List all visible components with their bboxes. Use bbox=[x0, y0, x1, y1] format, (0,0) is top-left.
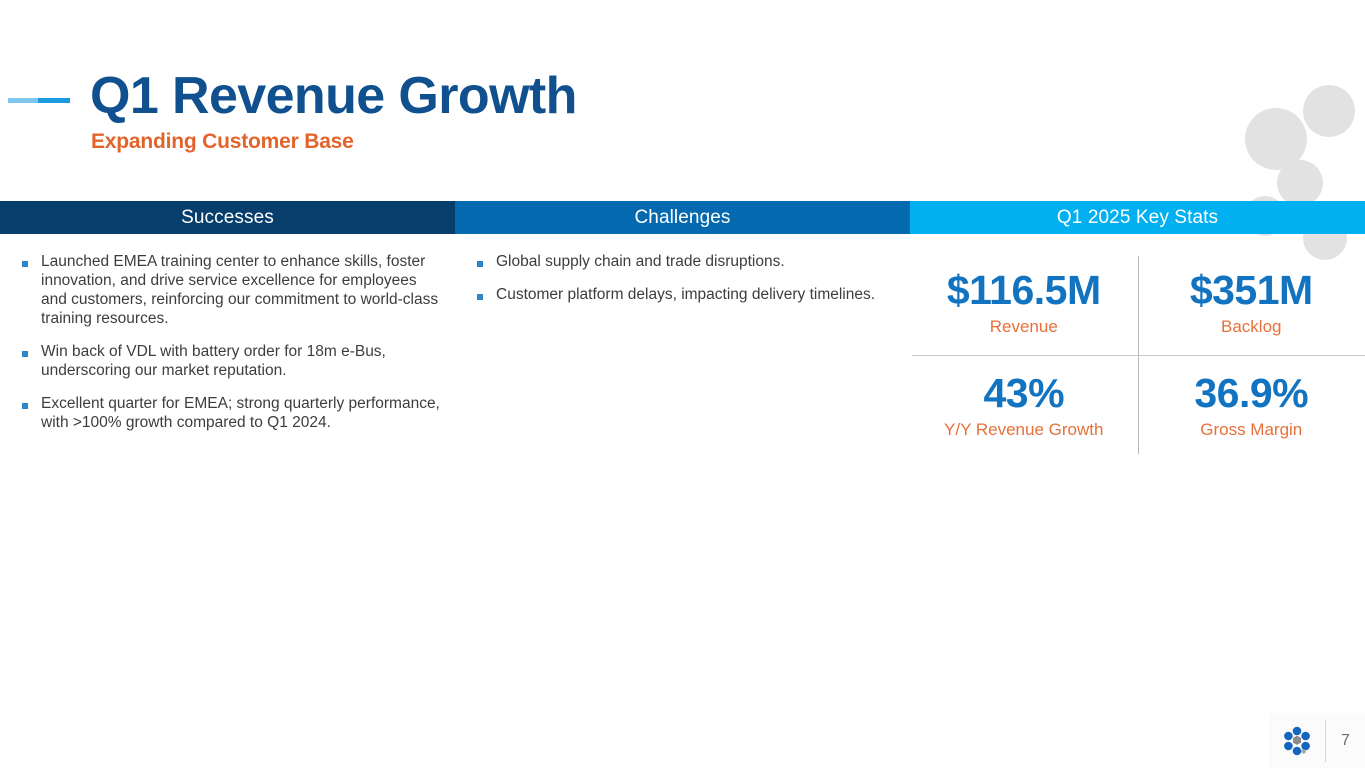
company-logo-icon bbox=[1269, 713, 1325, 768]
bullet-square-icon bbox=[22, 403, 28, 409]
stat-label: Revenue bbox=[990, 318, 1058, 337]
challenges-column: Global supply chain and trade disruption… bbox=[477, 252, 887, 318]
successes-column: Launched EMEA training center to enhance… bbox=[22, 252, 446, 447]
accent-segment-bright bbox=[38, 98, 70, 103]
bullet-square-icon bbox=[477, 294, 483, 300]
bullet-text: Launched EMEA training center to enhance… bbox=[41, 252, 446, 328]
stat-value: 36.9% bbox=[1194, 373, 1308, 414]
list-item: Excellent quarter for EMEA; strong quart… bbox=[22, 394, 446, 432]
decorative-circle bbox=[1303, 85, 1355, 137]
bullet-square-icon bbox=[477, 261, 483, 267]
band-label-challenges: Challenges bbox=[455, 201, 910, 234]
list-item: Win back of VDL with battery order for 1… bbox=[22, 342, 446, 380]
accent-segment-light bbox=[8, 98, 38, 103]
stat-yy-revenue-growth: 43% Y/Y Revenue Growth bbox=[910, 355, 1138, 458]
key-stats-grid: $116.5M Revenue $351M Backlog 43% Y/Y Re… bbox=[910, 252, 1365, 458]
slide-footer: 7 bbox=[1269, 713, 1365, 768]
list-item: Customer platform delays, impacting deli… bbox=[477, 285, 887, 304]
bullet-text: Global supply chain and trade disruption… bbox=[496, 252, 887, 271]
title-accent-rule bbox=[8, 98, 70, 103]
section-header-band: Successes Challenges Q1 2025 Key Stats bbox=[0, 201, 1365, 234]
decorative-circle bbox=[1277, 160, 1323, 206]
stat-label: Y/Y Revenue Growth bbox=[944, 421, 1103, 440]
stat-label: Backlog bbox=[1221, 318, 1281, 337]
bullet-square-icon bbox=[22, 261, 28, 267]
bullet-text: Customer platform delays, impacting deli… bbox=[496, 285, 887, 304]
key-stats-panel: $116.5M Revenue $351M Backlog 43% Y/Y Re… bbox=[910, 252, 1365, 458]
stat-value: $351M bbox=[1190, 270, 1313, 311]
bullet-text: Win back of VDL with battery order for 1… bbox=[41, 342, 446, 380]
stat-backlog: $351M Backlog bbox=[1138, 252, 1365, 355]
list-item: Launched EMEA training center to enhance… bbox=[22, 252, 446, 328]
stat-value: 43% bbox=[983, 373, 1064, 414]
stat-gross-margin: 36.9% Gross Margin bbox=[1138, 355, 1365, 458]
page-title: Q1 Revenue Growth bbox=[90, 68, 577, 124]
stat-revenue: $116.5M Revenue bbox=[910, 252, 1138, 355]
band-label-key-stats: Q1 2025 Key Stats bbox=[910, 201, 1365, 234]
page-subtitle: Expanding Customer Base bbox=[91, 130, 354, 154]
page-number: 7 bbox=[1326, 732, 1365, 750]
decorative-circle bbox=[1245, 108, 1307, 170]
bullet-square-icon bbox=[22, 351, 28, 357]
bullet-text: Excellent quarter for EMEA; strong quart… bbox=[41, 394, 446, 432]
list-item: Global supply chain and trade disruption… bbox=[477, 252, 887, 271]
stat-label: Gross Margin bbox=[1200, 421, 1302, 440]
stat-value: $116.5M bbox=[947, 270, 1101, 311]
band-label-successes: Successes bbox=[0, 201, 455, 234]
stats-horizontal-divider bbox=[912, 355, 1365, 356]
